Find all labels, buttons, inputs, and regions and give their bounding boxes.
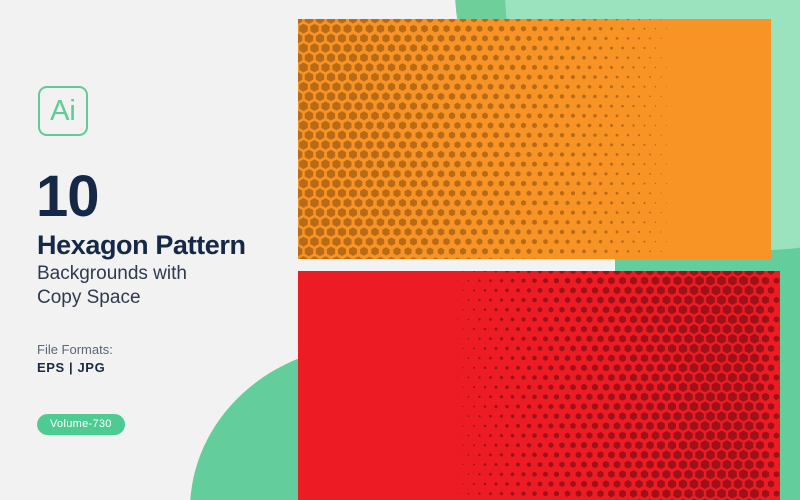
page-subtitle-line-2: Copy Space [37,286,277,310]
poster-canvas: Ai 10 Hexagon Pattern Backgrounds with C… [0,0,800,500]
hexagon-halftone-pattern-red [298,271,780,500]
hexagon-halftone-pattern-orange [298,19,771,259]
page-subtitle-line-1: Backgrounds with [37,262,277,286]
page-subtitle: Backgrounds with Copy Space [37,262,277,310]
preview-panel-red [298,271,780,500]
page-title: Hexagon Pattern [37,232,246,259]
preview-panel-orange [298,19,771,259]
volume-badge: Volume-730 [37,414,125,435]
file-formats-label: File Formats: [37,342,113,357]
file-formats-value: EPS | JPG [37,360,105,375]
badge-label: Ai [50,97,76,126]
adobe-illustrator-badge-icon: Ai [38,86,88,136]
pack-count: 10 [36,168,99,226]
info-column: Ai 10 Hexagon Pattern Backgrounds with C… [0,0,298,500]
